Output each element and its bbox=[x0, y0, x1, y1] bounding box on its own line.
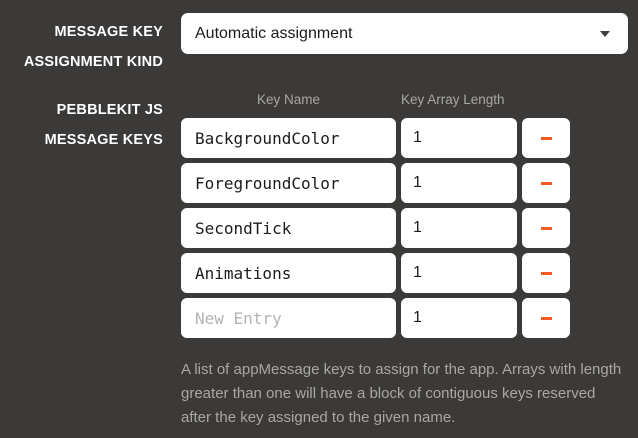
assignment-kind-label-line2: ASSIGNMENT KIND bbox=[0, 47, 163, 77]
key-array-length-input[interactable]: 1 bbox=[401, 253, 517, 293]
key-array-length-input[interactable]: 1 bbox=[401, 163, 517, 203]
message-keys-label-line2: MESSAGE KEYS bbox=[0, 125, 163, 155]
assignment-kind-label-line1: MESSAGE KEY bbox=[0, 17, 163, 47]
key-name-input[interactable]: New Entry bbox=[181, 298, 396, 338]
table-row: BackgroundColor1 bbox=[181, 118, 570, 158]
assignment-kind-select[interactable]: Automatic assignment bbox=[181, 13, 628, 54]
minus-icon bbox=[541, 272, 552, 275]
table-row: Animations1 bbox=[181, 253, 570, 293]
remove-key-button[interactable] bbox=[522, 298, 570, 338]
remove-key-button[interactable] bbox=[522, 208, 570, 248]
key-array-length-input[interactable]: 1 bbox=[401, 208, 517, 248]
table-row: New Entry1 bbox=[181, 298, 570, 338]
key-name-input[interactable]: ForegroundColor bbox=[181, 163, 396, 203]
message-keys-label-line1: PEBBLEKIT JS bbox=[0, 95, 163, 125]
message-keys-description: A list of appMessage keys to assign for … bbox=[181, 358, 626, 430]
key-name-input[interactable]: Animations bbox=[181, 253, 396, 293]
pebblekit-js-message-keys-label: PEBBLEKIT JS MESSAGE KEYS bbox=[0, 95, 163, 155]
message-key-assignment-kind-label: MESSAGE KEY ASSIGNMENT KIND bbox=[0, 17, 163, 77]
chevron-down-icon bbox=[600, 31, 610, 37]
column-header-key-name: Key Name bbox=[181, 92, 396, 107]
column-header-key-array-length: Key Array Length bbox=[401, 92, 505, 107]
remove-key-button[interactable] bbox=[522, 163, 570, 203]
message-keys-table: BackgroundColor1ForegroundColor1SecondTi… bbox=[181, 118, 570, 343]
table-row: SecondTick1 bbox=[181, 208, 570, 248]
minus-icon bbox=[541, 317, 552, 320]
key-array-length-input[interactable]: 1 bbox=[401, 118, 517, 158]
key-name-input[interactable]: SecondTick bbox=[181, 208, 396, 248]
remove-key-button[interactable] bbox=[522, 118, 570, 158]
minus-icon bbox=[541, 137, 552, 140]
minus-icon bbox=[541, 182, 552, 185]
key-array-length-input[interactable]: 1 bbox=[401, 298, 517, 338]
key-name-input[interactable]: BackgroundColor bbox=[181, 118, 396, 158]
assignment-kind-selected-value: Automatic assignment bbox=[195, 25, 600, 43]
table-row: ForegroundColor1 bbox=[181, 163, 570, 203]
remove-key-button[interactable] bbox=[522, 253, 570, 293]
minus-icon bbox=[541, 227, 552, 230]
